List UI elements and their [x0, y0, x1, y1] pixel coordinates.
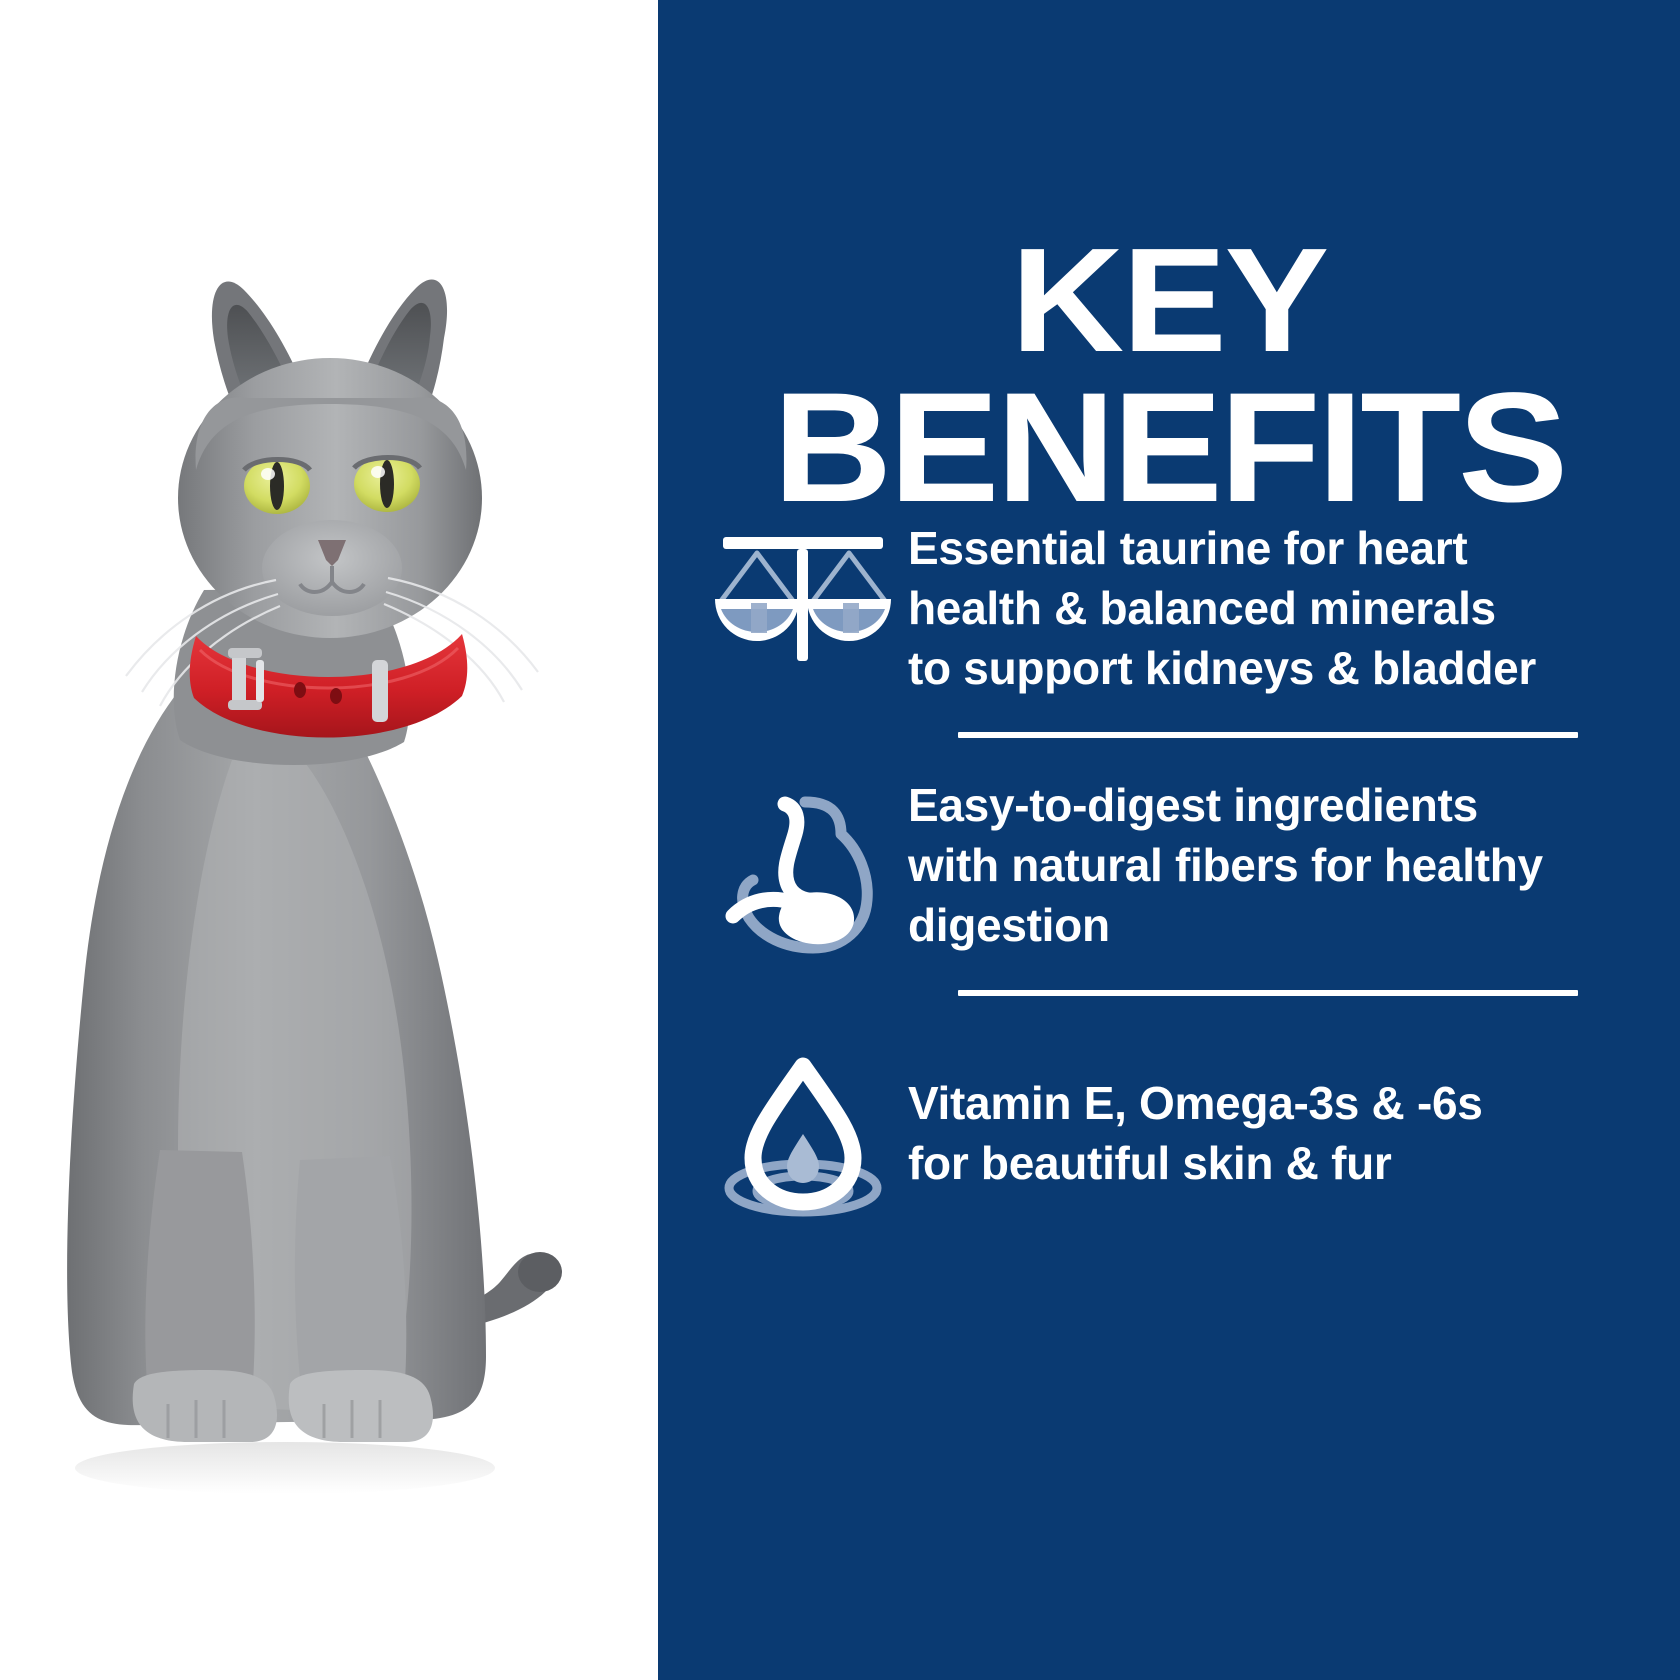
cat-eye-right — [354, 456, 420, 512]
stomach-icon — [713, 790, 893, 958]
key-benefits-graphic: KEY BENEFITS — [0, 0, 1680, 1680]
benefit-icon-wrap-3 — [698, 1030, 908, 1190]
cat-front-leg-right — [295, 1156, 406, 1396]
benefit-list: Essential taurine for heart health & bal… — [698, 515, 1648, 1193]
water-drop-icon — [713, 1048, 893, 1218]
page-title: KEY BENEFITS — [627, 229, 1680, 524]
balance-scale-icon — [705, 527, 901, 675]
cat-tail-tip — [518, 1252, 562, 1292]
benefit-text-3: Vitamin E, Omega-3s & -6s for beautiful … — [908, 1030, 1548, 1194]
collar-keeper — [372, 660, 388, 722]
cat-photo-panel — [0, 0, 658, 1680]
benefit-divider-2 — [958, 990, 1578, 996]
benefit-item-3: Vitamin E, Omega-3s & -6s for beautiful … — [698, 1030, 1648, 1194]
cat-photo — [0, 0, 658, 1680]
cat-shadow — [75, 1442, 495, 1494]
page-title-line-2: BENEFITS — [627, 373, 1680, 524]
page-title-line-1: KEY — [627, 229, 1680, 373]
benefit-text-2: Easy-to-digest ingredients with natural … — [908, 772, 1548, 955]
benefit-icon-wrap-2 — [698, 772, 908, 932]
benefits-panel: KEY BENEFITS — [658, 0, 1680, 1680]
benefit-text-1: Essential taurine for heart health & bal… — [908, 515, 1548, 698]
cat-eye-left — [244, 458, 310, 514]
benefit-item-1: Essential taurine for heart health & bal… — [698, 515, 1648, 698]
benefit-divider-1 — [958, 732, 1578, 738]
cat-front-leg-left — [145, 1150, 254, 1396]
benefit-icon-wrap-1 — [698, 515, 908, 675]
benefit-item-2: Easy-to-digest ingredients with natural … — [698, 772, 1648, 955]
